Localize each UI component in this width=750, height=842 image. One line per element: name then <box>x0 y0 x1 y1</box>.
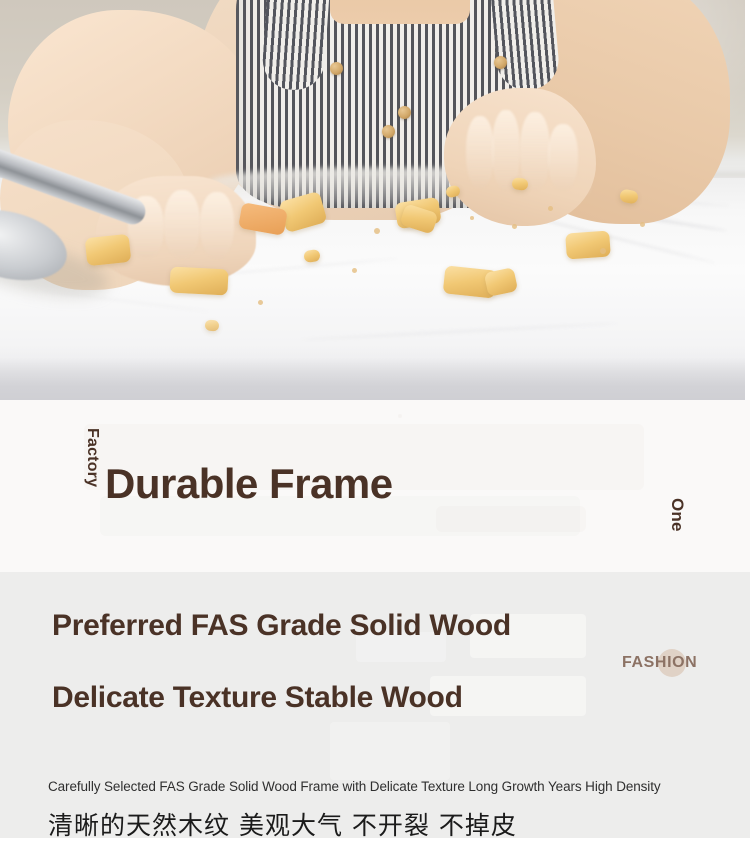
snack-crumb <box>258 300 263 305</box>
snack-puff <box>565 230 611 259</box>
wooden-button <box>330 62 343 75</box>
background-shape <box>436 506 586 532</box>
wooden-button <box>494 56 507 69</box>
snack-puff <box>205 319 220 331</box>
baby-finger <box>164 190 200 258</box>
background-shape <box>330 722 450 780</box>
baby-finger <box>548 124 578 190</box>
snack-crumb <box>640 222 645 227</box>
fashion-badge-label: FASHION <box>622 654 697 672</box>
snack-puff <box>169 267 228 296</box>
snack-crumb <box>352 268 357 273</box>
snack-puff <box>85 234 132 266</box>
pinafore-neckline <box>330 0 470 24</box>
baby-finger <box>200 192 234 258</box>
wooden-button <box>382 125 395 138</box>
wooden-button <box>398 106 411 119</box>
headline-preferred-fas-grade: Preferred FAS Grade Solid Wood <box>52 611 522 642</box>
durable-frame-section: Factory Durable Frame One <box>0 400 750 572</box>
feature-caption-chinese: 清晰的天然木纹 美观大气 不开裂 不掉皮 <box>48 806 517 842</box>
snack-crumb <box>600 248 606 254</box>
snack-crumb <box>470 216 474 220</box>
snack-crumb <box>374 228 380 234</box>
headline-delicate-texture: Delicate Texture Stable Wood <box>52 683 522 714</box>
hero-bottom-fade <box>0 358 745 400</box>
snack-crumb <box>548 206 553 211</box>
product-detail-page: Factory Durable Frame One Preferred FAS … <box>0 0 750 838</box>
background-shape <box>398 414 402 418</box>
hero-image <box>0 0 745 400</box>
fashion-badge: FASHION <box>622 650 702 676</box>
durable-frame-title: Durable Frame <box>105 463 393 505</box>
fas-grade-section: Preferred FAS Grade Solid Wood Delicate … <box>0 572 750 838</box>
vertical-label-one: One <box>667 498 687 532</box>
baby-finger <box>466 116 494 188</box>
vertical-label-factory: Factory <box>83 428 101 487</box>
feature-subcaption: Carefully Selected FAS Grade Solid Wood … <box>48 779 661 794</box>
snack-crumb <box>512 224 517 229</box>
